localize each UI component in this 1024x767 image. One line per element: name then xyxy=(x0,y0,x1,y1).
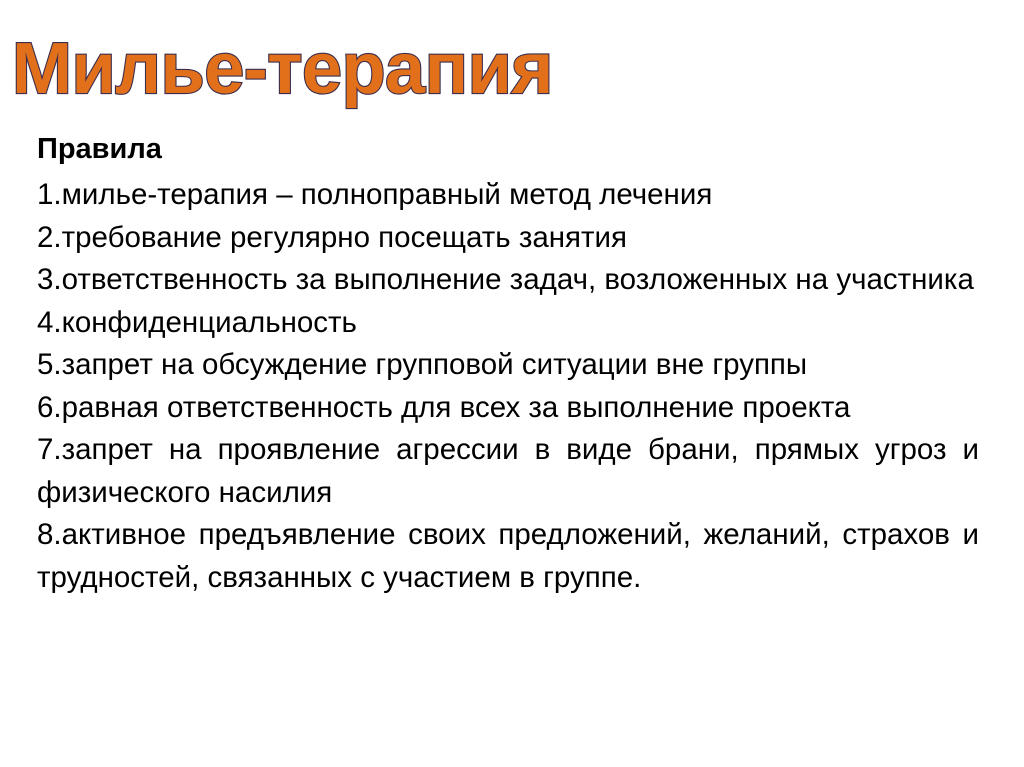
list-item: 8.активное предъявление своих предложени… xyxy=(37,514,979,599)
list-item: 3.ответственность за выполнение задач, в… xyxy=(37,259,979,302)
list-item-number: 2. xyxy=(37,221,62,254)
list-item-label: милье-терапия – полноправный метод лечен… xyxy=(62,178,713,211)
rules-heading: Правила xyxy=(37,128,979,170)
list-item: 6.равная ответственность для всех за вып… xyxy=(37,387,979,430)
list-item-label: активное предъявление своих предложений,… xyxy=(37,518,979,594)
list-item-number: 3. xyxy=(37,263,62,296)
list-item-number: 7. xyxy=(37,433,62,466)
list-item: 1.милье-терапия – полноправный метод леч… xyxy=(37,174,979,217)
rules-list: 1.милье-терапия – полноправный метод леч… xyxy=(37,174,979,599)
list-item-label: требование регулярно посещать занятия xyxy=(62,221,627,254)
page-title: Милье-терапия xyxy=(12,26,1002,112)
list-item-label: запрет на проявление агрессии в виде бра… xyxy=(37,433,979,509)
list-item: 5.запрет на обсуждение групповой ситуаци… xyxy=(37,344,979,387)
list-item-number: 4. xyxy=(37,306,62,339)
slide: Милье-терапия Правила 1.милье-терапия – … xyxy=(0,0,1024,767)
list-item-label: запрет на обсуждение групповой ситуации … xyxy=(62,348,807,381)
list-item-number: 1. xyxy=(37,178,62,211)
list-item-label: ответственность за выполнение задач, воз… xyxy=(62,263,974,296)
list-item-label: конфиденциальность xyxy=(62,306,357,339)
list-item: 4.конфиденциальность xyxy=(37,302,979,345)
slide-title-container: Милье-терапия xyxy=(12,26,1002,116)
list-item-number: 8. xyxy=(37,518,62,551)
list-item: 2.требование регулярно посещать занятия xyxy=(37,217,979,260)
slide-body: Правила 1.милье-терапия – полноправный м… xyxy=(37,128,979,599)
list-item: 7.запрет на проявление агрессии в виде б… xyxy=(37,429,979,514)
list-item-number: 6. xyxy=(37,391,62,424)
list-item-label: равная ответственность для всех за выпол… xyxy=(62,391,851,424)
list-item-number: 5. xyxy=(37,348,62,381)
